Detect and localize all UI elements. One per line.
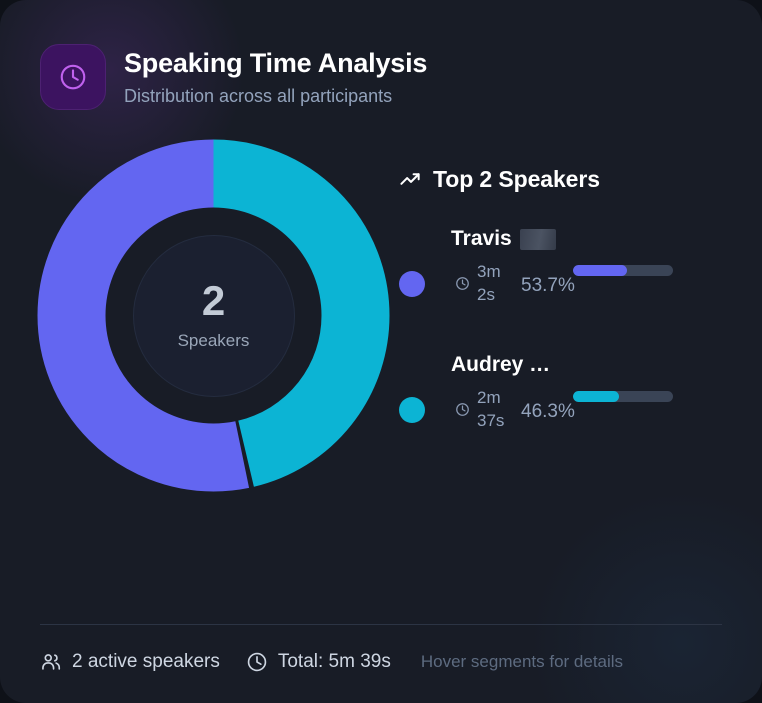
speaker-name: Audrey … (451, 353, 550, 377)
card-header: Speaking Time Analysis Distribution acro… (40, 44, 722, 110)
top-speakers-panel: Top 2 Speakers Travis (391, 138, 722, 479)
speaker-progress-bar (573, 391, 673, 402)
clock-icon (246, 651, 268, 673)
users-icon (40, 651, 62, 673)
speaker-progress-bar (573, 265, 673, 276)
speaker-color-dot (399, 271, 425, 297)
speaking-time-card: Speaking Time Analysis Distribution acro… (0, 0, 762, 703)
clock-icon (455, 276, 470, 291)
donut-speaker-label: Speakers (178, 331, 250, 351)
speaker-percent: 53.7% (521, 275, 575, 297)
list-item[interactable]: Audrey … 2m 37s 46.3% (399, 353, 722, 479)
speaker-name-text: Audrey … (451, 353, 550, 377)
page-title: Speaking Time Analysis (124, 48, 427, 79)
speaker-name-text: Travis (451, 227, 512, 251)
top-speakers-header: Top 2 Speakers (399, 166, 722, 193)
footer-divider (40, 624, 722, 625)
active-speakers-stat: 2 active speakers (40, 651, 220, 673)
speaker-duration: 3m 2s (455, 261, 511, 307)
speaker-duration-text: 2m 37s (477, 387, 511, 433)
trending-up-icon (399, 168, 422, 191)
clock-icon (40, 44, 106, 110)
speaker-name: Travis (451, 227, 556, 251)
speaker-percent: 46.3% (521, 401, 575, 423)
total-time-stat: Total: 5m 39s (246, 651, 391, 673)
list-item[interactable]: Travis 3m 2s 53.7% (399, 227, 722, 353)
total-time-label: Total: 5m 39s (278, 651, 391, 673)
card-footer: 2 active speakers Total: 5m 39s Hover se… (40, 651, 623, 673)
top-speakers-title: Top 2 Speakers (433, 166, 600, 193)
speaker-color-dot (399, 397, 425, 423)
redacted-name-block (520, 229, 556, 250)
speaker-duration: 2m 37s (455, 387, 511, 433)
donut-speaker-count: 2 (202, 280, 225, 322)
donut-center-label: 2 Speakers (133, 235, 295, 397)
active-speakers-label: 2 active speakers (72, 651, 220, 673)
clock-icon (455, 402, 470, 417)
card-body: 2 Speakers Top 2 Speakers (40, 138, 722, 493)
speaker-duration-text: 3m 2s (477, 261, 511, 307)
page-subtitle: Distribution across all participants (124, 86, 427, 108)
speaker-progress-fill (573, 391, 619, 402)
speaking-time-donut-chart: 2 Speakers (36, 138, 391, 493)
speaker-progress-fill (573, 265, 627, 276)
hover-hint: Hover segments for details (421, 652, 623, 672)
